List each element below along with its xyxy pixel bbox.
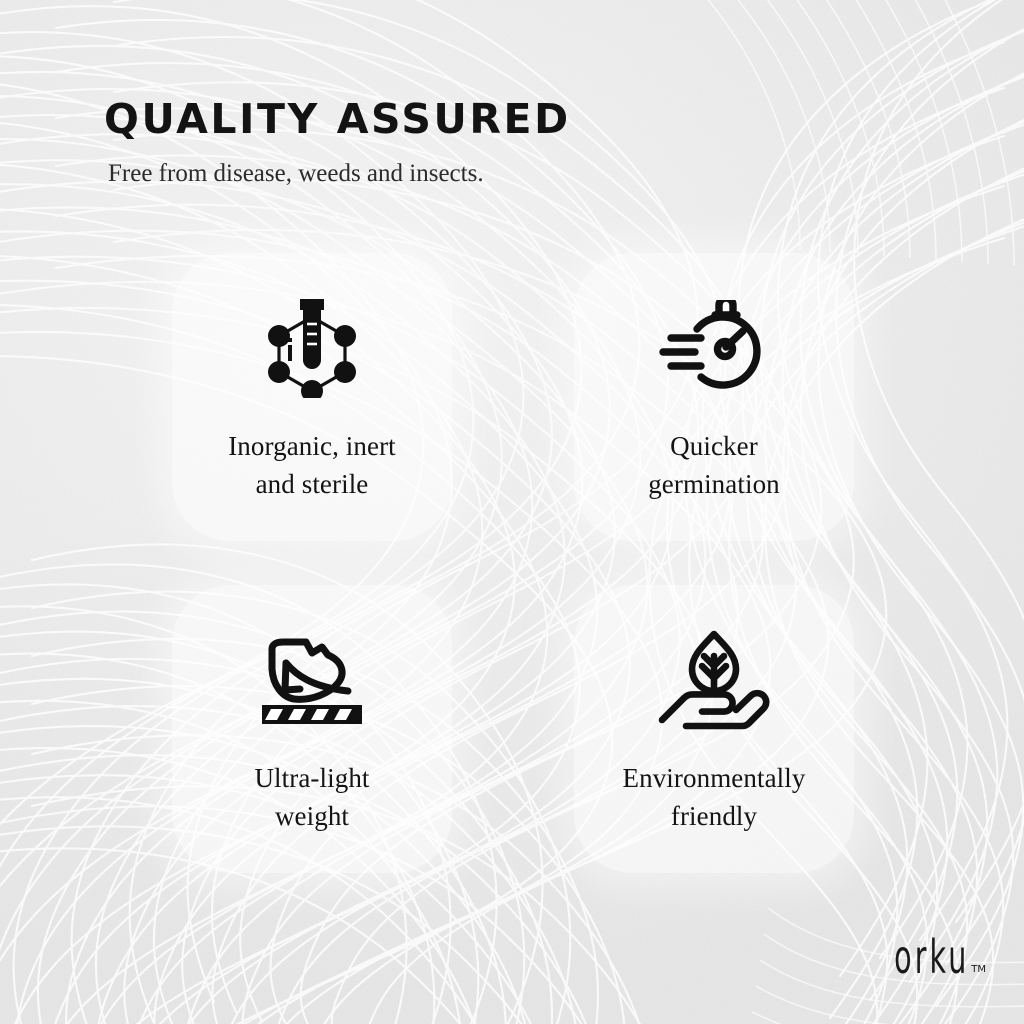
feature-card-germination[interactable]: Quicker germination: [574, 253, 854, 541]
brand-logo: orku TM: [848, 937, 986, 978]
hand-holding-leaf-icon: [658, 631, 770, 729]
feature-card-label: Inorganic, inert and sterile: [218, 427, 406, 504]
feature-card-label: Quicker germination: [638, 427, 790, 504]
promo-graphic: QUALITY ASSURED Free from disease, weeds…: [0, 0, 1024, 1024]
page-title: QUALITY ASSURED: [104, 98, 744, 141]
stopwatch-speed-icon: [659, 299, 769, 397]
trademark-symbol: TM: [971, 964, 986, 975]
feature-card-label: Ultra-light weight: [244, 759, 379, 836]
feature-card-inorganic[interactable]: Inorganic, inert and sterile: [172, 253, 452, 541]
brand-wordmark: orku: [894, 937, 969, 978]
molecule-test-tube-icon: [259, 299, 365, 397]
feather-scale-icon: [256, 631, 368, 729]
feature-card-grid: Inorganic, inert and sterile: [172, 253, 854, 877]
page-subtitle: Free from disease, weeds and insects.: [108, 159, 744, 189]
feature-card-eco[interactable]: Environmentally friendly: [574, 585, 854, 873]
feature-card-lightweight[interactable]: Ultra-light weight: [172, 585, 452, 873]
header-block: QUALITY ASSURED Free from disease, weeds…: [104, 98, 744, 189]
feature-card-label: Environmentally friendly: [613, 759, 816, 836]
